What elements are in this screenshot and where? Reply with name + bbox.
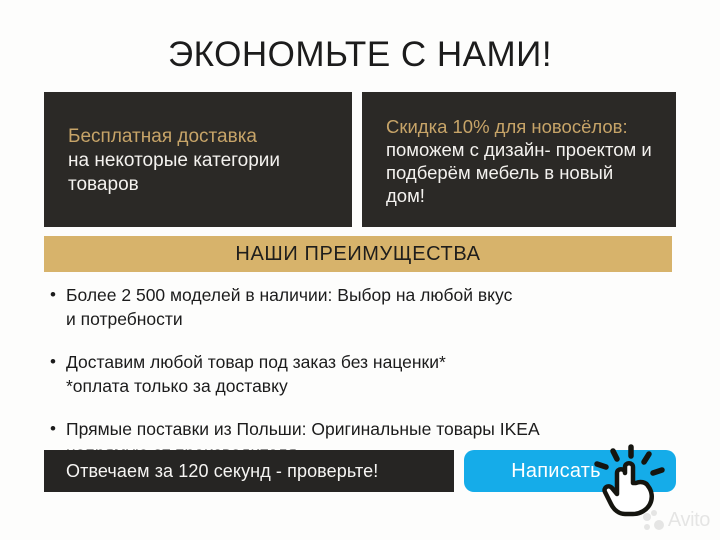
avito-watermark: Avito: [643, 509, 710, 532]
list-item-text: Доставим любой товар под заказ без нацен…: [66, 350, 446, 398]
list-item-text: Более 2 500 моделей в наличии: Выбор на …: [66, 283, 512, 331]
promo-card-free-delivery: Бесплатная доставка на некоторые категор…: [44, 92, 352, 227]
promo-poster: ЭКОНОМЬТЕ С НАМИ! Бесплатная доставка на…: [0, 0, 720, 540]
bullet-icon: •: [50, 350, 66, 374]
response-time-label: Отвечаем за 120 секунд - проверьте!: [44, 461, 378, 482]
promo-card-highlight: Скидка 10% для новосёлов:: [386, 115, 656, 138]
bullet-icon: •: [50, 417, 66, 441]
avito-watermark-text: Avito: [668, 509, 710, 532]
avito-logo-icon: [643, 510, 665, 532]
write-button-label: Написать: [511, 460, 600, 483]
cta-row: Отвечаем за 120 секунд - проверьте! Напи…: [44, 450, 676, 494]
promo-card-description: поможем с дизайн- проектом и подберём ме…: [386, 138, 656, 207]
promo-card-newcomer-discount: Скидка 10% для новосёлов: поможем с диза…: [362, 92, 676, 227]
advantages-banner-label: НАШИ ПРЕИМУЩЕСТВА: [235, 243, 480, 266]
write-button[interactable]: Написать: [464, 450, 676, 492]
promo-card-description: на некоторые категории товаров: [68, 149, 332, 197]
list-item: • Более 2 500 моделей в наличии: Выбор н…: [50, 283, 680, 331]
response-time-badge: Отвечаем за 120 секунд - проверьте!: [44, 450, 454, 492]
page-title: ЭКОНОМЬТЕ С НАМИ!: [44, 33, 676, 77]
bullet-icon: •: [50, 283, 66, 307]
promo-card-highlight: Бесплатная доставка: [68, 125, 332, 149]
advantages-banner: НАШИ ПРЕИМУЩЕСТВА: [44, 236, 672, 272]
promo-boxes-row: Бесплатная доставка на некоторые категор…: [44, 92, 676, 227]
list-item: • Доставим любой товар под заказ без нац…: [50, 350, 680, 398]
